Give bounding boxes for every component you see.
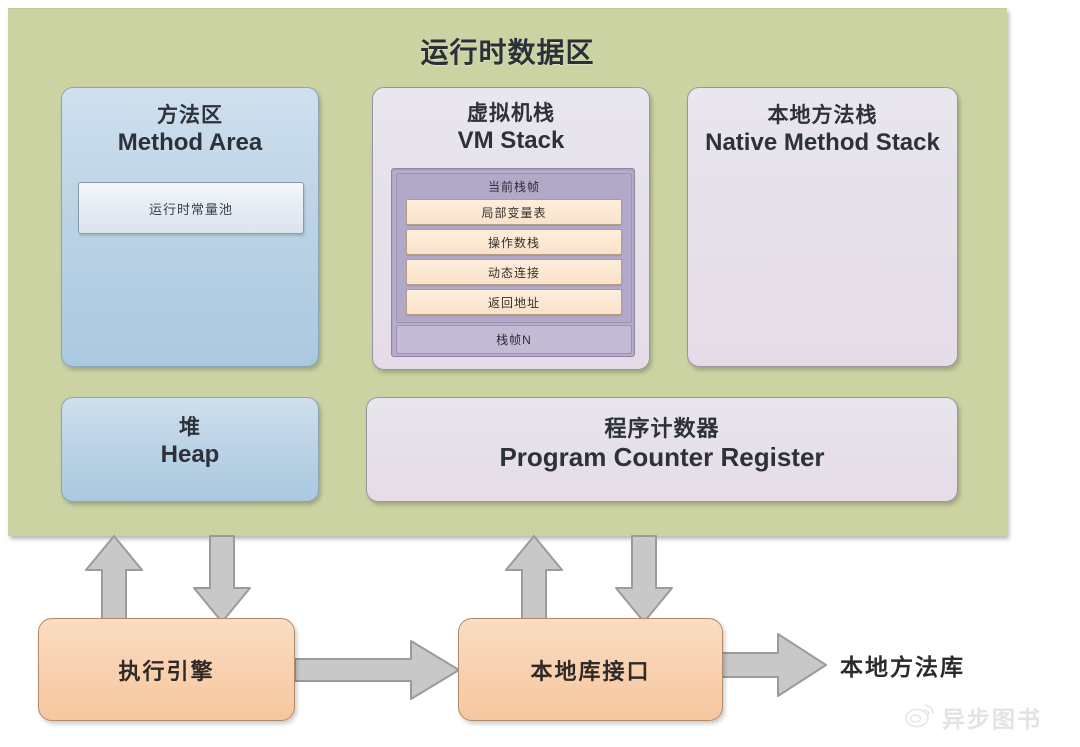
native-method-stack-title-cn: 本地方法栈: [688, 104, 957, 129]
method-area-title: 方法区 Method Area: [62, 104, 318, 157]
frame-slot-return-address: 返回地址: [406, 289, 622, 315]
runtime-data-area-panel: 运行时数据区 方法区 Method Area 运行时常量池 虚拟机栈 VM St…: [8, 8, 1007, 536]
frame-slot-dynamic-linking: 动态连接: [406, 259, 622, 285]
vm-stack-title: 虚拟机栈 VM Stack: [373, 102, 649, 155]
vm-stack-title-cn: 虚拟机栈: [373, 102, 649, 127]
interface-up-arrow: [500, 534, 568, 624]
stack-frame-group: 当前栈帧 局部变量表 操作数栈 动态连接 返回地址 栈帧N: [391, 168, 635, 357]
engine-up-arrow: [80, 534, 148, 624]
interface-down-arrow: [610, 534, 678, 624]
program-counter-register-box: 程序计数器 Program Counter Register: [366, 397, 958, 502]
program-counter-register-title-en: Program Counter Register: [367, 442, 957, 473]
frame-slot-local-variable-table: 局部变量表: [406, 199, 622, 225]
vm-stack-title-en: VM Stack: [373, 127, 649, 155]
interface-to-library-arrow: [720, 630, 830, 700]
runtime-constant-pool-box: 运行时常量池: [78, 182, 304, 234]
page-title: 运行时数据区: [8, 31, 1007, 71]
weibo-logo-icon: [905, 702, 935, 733]
heap-box: 堆 Heap: [61, 397, 319, 502]
method-area-box: 方法区 Method Area 运行时常量池: [61, 87, 319, 367]
native-method-stack-title-en: Native Method Stack: [688, 129, 957, 157]
native-method-library-label: 本地方法库: [840, 648, 965, 682]
stack-frame-n-box: 栈帧N: [396, 325, 632, 354]
native-method-stack-box: 本地方法栈 Native Method Stack: [687, 87, 958, 367]
method-area-title-en: Method Area: [62, 129, 318, 157]
method-area-title-cn: 方法区: [62, 104, 318, 129]
watermark: 异步图书: [905, 700, 1042, 734]
engine-to-interface-arrow: [293, 637, 463, 703]
current-stack-frame-box: 当前栈帧 局部变量表 操作数栈 动态连接 返回地址: [396, 173, 632, 323]
heap-title-cn: 堆: [62, 416, 318, 441]
engine-down-arrow: [188, 534, 256, 624]
program-counter-register-title-cn: 程序计数器: [367, 416, 957, 442]
program-counter-register-title: 程序计数器 Program Counter Register: [367, 416, 957, 473]
native-library-interface-box: 本地库接口: [458, 618, 723, 721]
heap-title: 堆 Heap: [62, 416, 318, 469]
frame-slot-operand-stack: 操作数栈: [406, 229, 622, 255]
vm-stack-box: 虚拟机栈 VM Stack 当前栈帧 局部变量表 操作数栈 动态连接 返回地址 …: [372, 87, 650, 370]
current-stack-frame-label: 当前栈帧: [397, 174, 631, 195]
native-method-stack-title: 本地方法栈 Native Method Stack: [688, 104, 957, 157]
watermark-text: 异步图书: [942, 700, 1042, 734]
execution-engine-box: 执行引擎: [38, 618, 295, 721]
heap-title-en: Heap: [62, 441, 318, 469]
